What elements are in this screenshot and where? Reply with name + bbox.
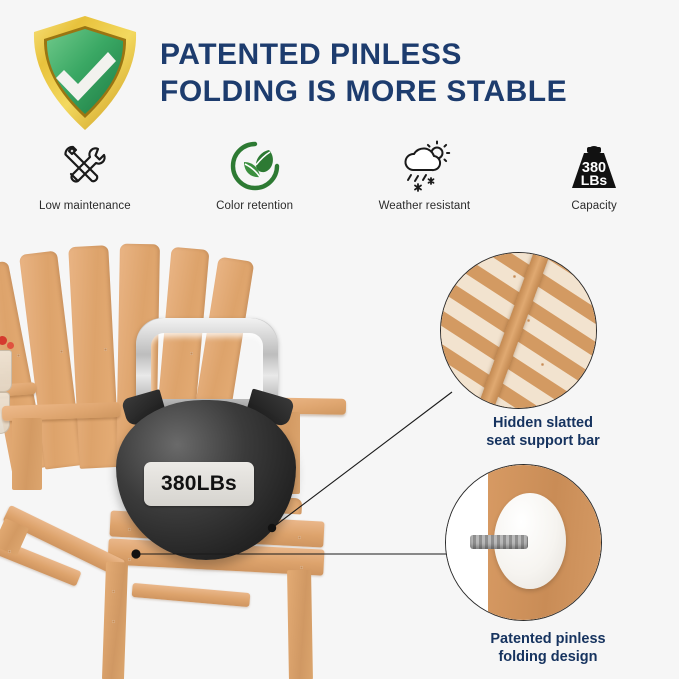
feature-label: Color retention bbox=[216, 200, 293, 212]
feature-low-maintenance: Low maintenance bbox=[0, 138, 170, 230]
infographic-canvas: PATENTED PINLESS FOLDING IS MORE STABLE … bbox=[0, 0, 679, 679]
callout-line-2: folding design bbox=[438, 648, 658, 666]
callout-line-1: Patented pinless bbox=[438, 630, 658, 648]
screw bbox=[112, 590, 115, 593]
feature-capacity: 380 LBs Capacity bbox=[509, 138, 679, 230]
leaf-circle-icon bbox=[229, 138, 281, 194]
chair-leg-front-left bbox=[102, 562, 128, 679]
pinless-knob-closeup bbox=[445, 464, 602, 621]
screw bbox=[112, 620, 115, 623]
title-line-2: FOLDING IS MORE STABLE bbox=[160, 73, 660, 110]
weight-380lbs-icon: 380 LBs bbox=[568, 138, 620, 194]
screw bbox=[300, 566, 303, 569]
product-scene: 380LBs Hidden slatted seat support bar bbox=[0, 232, 679, 679]
callout-label-1: Hidden slatted seat support bar bbox=[438, 414, 648, 450]
page-title: PATENTED PINLESS FOLDING IS MORE STABLE bbox=[160, 36, 660, 110]
arm-support-left bbox=[12, 418, 42, 490]
weight-unit: LBs bbox=[581, 172, 608, 188]
drink-glass bbox=[0, 350, 12, 392]
feature-color-retention: Color retention bbox=[170, 138, 340, 230]
screw bbox=[17, 354, 20, 357]
title-line-1: PATENTED PINLESS bbox=[160, 36, 660, 73]
callout-line-1: Hidden slatted bbox=[438, 414, 648, 432]
screw bbox=[8, 550, 11, 553]
feature-list: Low maintenance Color retention bbox=[0, 138, 679, 230]
feature-label: Weather resistant bbox=[379, 200, 471, 212]
kettlebell-weight-label: 380LBs bbox=[144, 462, 254, 506]
kettlebell-icon: 380LBs bbox=[100, 314, 315, 564]
header-section: PATENTED PINLESS FOLDING IS MORE STABLE bbox=[0, 0, 679, 130]
wrench-screwdriver-icon bbox=[59, 138, 111, 194]
feature-weather-resistant: Weather resistant bbox=[340, 138, 510, 230]
feature-label: Capacity bbox=[571, 200, 617, 212]
green-check-shield-icon bbox=[26, 12, 144, 134]
callout-line-2: seat support bar bbox=[438, 432, 648, 450]
garnish-berry bbox=[7, 342, 14, 349]
feature-label: Low maintenance bbox=[39, 200, 131, 212]
screw bbox=[60, 350, 63, 353]
chair-leg-front-right bbox=[287, 570, 313, 679]
slatted-seat-closeup bbox=[440, 252, 597, 409]
threaded-bolt bbox=[470, 535, 528, 549]
stretcher-bar bbox=[132, 583, 251, 607]
cloud-sun-snow-icon bbox=[396, 138, 452, 194]
callout-label-2: Patented pinless folding design bbox=[438, 630, 658, 666]
